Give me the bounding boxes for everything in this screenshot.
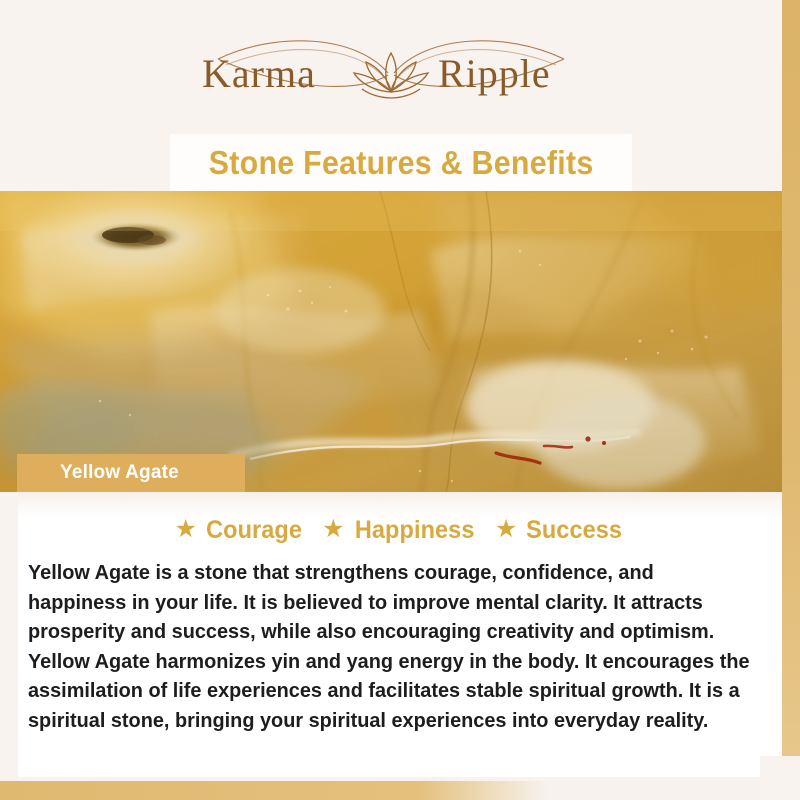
stone-photo: [0, 191, 782, 492]
poster-root: Karma Ripple Stone Features & Benefits: [0, 0, 800, 800]
stone-name-label: Yellow Agate: [60, 462, 179, 484]
star-icon: ★: [322, 517, 344, 542]
stone-name-chip: Yellow Agate: [17, 454, 245, 492]
benefit-item-courage: ★ Courage: [175, 516, 306, 545]
benefit-item-happiness: ★ Happiness: [322, 516, 478, 545]
stone-photo-graphic: [0, 191, 782, 492]
content-card: ★ Courage ★ Happiness ★ Success Yellow A…: [18, 492, 782, 757]
lotus-icon: [354, 53, 428, 98]
page-surface: Karma Ripple Stone Features & Benefits: [0, 0, 782, 781]
benefit-item-success: ★ Success: [495, 516, 626, 545]
frame-border-right: [780, 0, 800, 760]
brand-name-right: Ripple: [438, 51, 551, 96]
section-title-banner: Stone Features & Benefits: [170, 134, 632, 191]
brand-name-left: Karma: [202, 51, 316, 96]
star-icon: ★: [175, 517, 197, 542]
brand-logo-graphic: Karma Ripple: [156, 29, 626, 125]
star-icon: ★: [495, 517, 517, 542]
card-top-fade: [18, 492, 782, 518]
brand-logo: Karma Ripple: [0, 24, 782, 129]
page-title: Stone Features & Benefits: [209, 144, 594, 182]
benefit-label: Happiness: [354, 516, 474, 545]
stone-description: Yellow Agate is a stone that strengthens…: [28, 558, 754, 735]
benefit-label: Success: [526, 516, 622, 545]
frame-corner-bottom-right: [760, 756, 800, 800]
benefits-list: ★ Courage ★ Happiness ★ Success: [18, 516, 782, 545]
benefit-label: Courage: [206, 516, 302, 545]
card-bottom-strip: [18, 757, 782, 777]
